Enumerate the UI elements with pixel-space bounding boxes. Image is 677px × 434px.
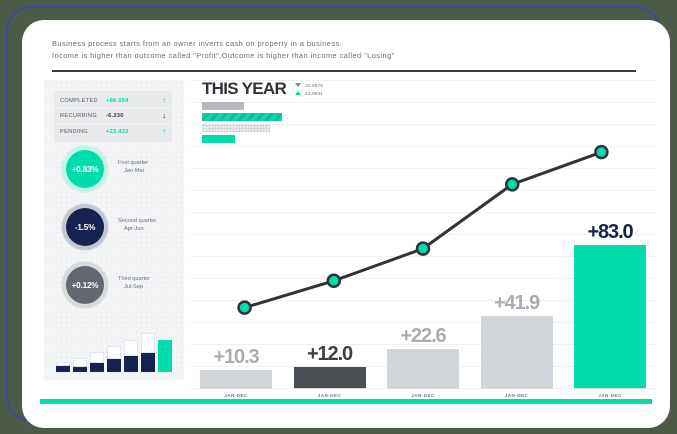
bar-column[interactable]: +12.0	[294, 148, 366, 388]
bar-rect[interactable]	[481, 316, 553, 388]
header-text: Business process starts from an owner in…	[52, 38, 638, 61]
mini-bar-top	[141, 333, 155, 353]
mini-bar-bottom	[124, 356, 138, 372]
stat-label-completed: COMPLETED	[60, 98, 106, 104]
mini-bar-bottom	[90, 363, 104, 372]
mini-bar	[141, 333, 155, 372]
hbar-teal	[202, 135, 235, 143]
bar-column[interactable]: +22.6	[387, 148, 459, 388]
stat-value-pending: +23.432	[106, 129, 156, 135]
chart-legend: 32.8875 42.9841	[295, 80, 323, 97]
quarter-period-second: Apr-Jun	[118, 225, 182, 233]
legend-item-0: 32.8875	[295, 81, 323, 89]
bar-column[interactable]: +83.0	[574, 148, 646, 388]
bar-rect[interactable]	[200, 370, 272, 388]
stat-label-recurring: RECURRING	[60, 113, 106, 119]
quarter-period-first: Jan-Mar	[118, 167, 182, 175]
header-divider	[52, 70, 636, 72]
sidebar-mini-bar-chart	[56, 338, 172, 372]
mini-bar-bottom	[73, 367, 87, 372]
arrow-up-icon: ↑	[156, 97, 166, 105]
mini-bar	[56, 362, 70, 372]
footer-accent-bar	[40, 399, 652, 404]
mini-bar-bottom	[56, 366, 70, 372]
chart-title: THIS YEAR	[202, 80, 286, 97]
bar-value-label: +12.0	[307, 344, 352, 365]
mini-bar	[107, 346, 121, 372]
header-line-2: Income is higher than outcome called "Pr…	[52, 50, 638, 62]
quarter-item-third[interactable]: +0.12% Third quarter Jul-Sep	[50, 258, 182, 316]
mini-bar-solid	[158, 340, 172, 372]
mini-bar-top	[73, 358, 87, 367]
donut-label-first: +0.83%	[72, 165, 99, 174]
triangle-up-icon	[295, 91, 301, 95]
bar-value-label: +10.3	[213, 347, 258, 368]
stat-label-pending: PENDING	[60, 129, 106, 135]
legend-value-0: 32.8875	[305, 83, 323, 88]
stats-table: COMPLETED +86.054 ↑ RECURRING -6.230 ↓ P…	[54, 91, 172, 142]
mini-bar-top	[107, 346, 121, 359]
donut-first-quarter: +0.83%	[62, 146, 108, 192]
bar-rect[interactable]	[574, 245, 646, 388]
stat-row-recurring[interactable]: RECURRING -6.230 ↓	[54, 109, 172, 124]
quarter-text-first: First quarter Jan-Mar	[118, 159, 182, 175]
sidebar-panel: COMPLETED +86.054 ↑ RECURRING -6.230 ↓ P…	[44, 80, 184, 380]
hbar-gray	[202, 102, 244, 110]
donut-third-quarter: +0.12%	[62, 262, 108, 308]
mini-bar-bottom	[141, 353, 155, 372]
chart-title-row: THIS YEAR 32.8875 42.9841	[202, 80, 323, 97]
quarter-text-third: Third quarter Jul-Sep	[118, 275, 182, 291]
bar-column[interactable]: +10.3	[200, 148, 272, 388]
quarter-title-second: Second quarter	[118, 217, 182, 225]
gridline	[190, 146, 656, 147]
hbar-striped-teal	[202, 113, 282, 121]
triangle-down-icon	[295, 83, 301, 87]
bar-value-label: +83.0	[587, 222, 632, 243]
mini-bar	[158, 340, 172, 372]
main-chart-area: THIS YEAR 32.8875 42.9841	[190, 80, 656, 406]
stat-value-recurring: -6.230	[106, 113, 156, 119]
quarter-title-third: Third quarter	[118, 275, 182, 283]
bar-rect[interactable]	[387, 349, 459, 388]
mini-bar	[90, 352, 104, 372]
mini-bar-top	[124, 340, 138, 356]
donut-label-second: -1.5%	[75, 223, 95, 232]
bar-column[interactable]: +41.9	[481, 148, 553, 388]
header-line-1: Business process starts from an owner in…	[52, 38, 638, 50]
bar-value-label: +41.9	[494, 293, 539, 314]
bar-group: +10.3+12.0+22.6+41.9+83.0	[190, 148, 656, 388]
arrow-down-icon: ↓	[156, 112, 166, 120]
arrow-up-icon: ↑	[156, 128, 166, 136]
bar-value-label: +22.6	[400, 326, 445, 347]
screenshot-stage: Business process starts from an owner in…	[0, 0, 677, 434]
mini-bar-bottom	[107, 359, 121, 372]
quarter-item-second[interactable]: -1.5% Second quarter Apr-Jun	[50, 200, 182, 258]
legend-item-1: 42.9841	[295, 89, 323, 97]
mini-bar-top	[90, 352, 104, 363]
stat-row-pending[interactable]: PENDING +23.432 ↑	[54, 124, 172, 139]
hbar-dotted	[202, 124, 270, 132]
stat-row-completed[interactable]: COMPLETED +86.054 ↑	[54, 94, 172, 109]
horizontal-bar-group	[202, 102, 322, 146]
bar-rect[interactable]	[294, 367, 366, 388]
quarter-text-second: Second quarter Apr-Jun	[118, 217, 182, 233]
legend-value-1: 42.9841	[305, 91, 323, 96]
mini-bar	[124, 340, 138, 372]
quarter-item-first[interactable]: +0.83% First quarter Jan-Mar	[50, 142, 182, 200]
quarter-list: +0.83% First quarter Jan-Mar -1.5% Secon…	[50, 142, 182, 316]
quarter-period-third: Jul-Sep	[118, 283, 182, 291]
donut-second-quarter: -1.5%	[62, 204, 108, 250]
quarter-title-first: First quarter	[118, 159, 182, 167]
donut-label-third: +0.12%	[72, 281, 99, 290]
stat-value-completed: +86.054	[106, 98, 156, 104]
infographic-card: Business process starts from an owner in…	[22, 20, 670, 428]
mini-bar	[73, 358, 87, 372]
